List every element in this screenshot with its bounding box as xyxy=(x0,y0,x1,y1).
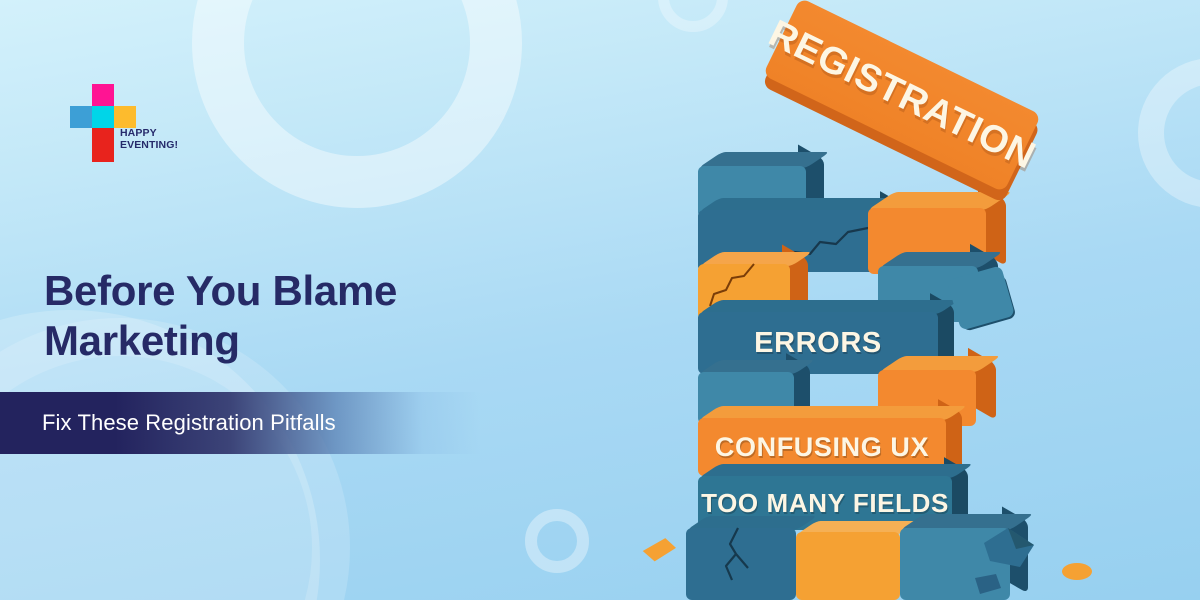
chip-shape xyxy=(970,572,1004,596)
logo-square-center xyxy=(92,106,114,128)
tower-block-base-center xyxy=(796,532,900,600)
debris-orange-dot xyxy=(1062,563,1092,580)
tower-label-too-many-fields: TOO MANY FIELDS xyxy=(701,488,949,519)
logo-square-right xyxy=(114,106,136,128)
tower-label-errors: ERRORS xyxy=(754,327,882,360)
debris-orange-chip-left xyxy=(638,534,681,566)
logo-wordmark: HAPPY EVENTING! xyxy=(120,128,178,151)
page-title: Before You Blame Marketing xyxy=(44,266,584,366)
debris-teal-shard-right xyxy=(980,525,1040,573)
happy-eventing-logo[interactable]: HAPPY EVENTING! xyxy=(54,84,184,142)
block-face xyxy=(686,528,796,600)
banner-canvas: HAPPY EVENTING! Before You Blame Marketi… xyxy=(0,0,1200,600)
deco-ring-top xyxy=(192,0,522,208)
logo-square-left xyxy=(70,106,92,128)
headline-line-1: Before You Blame xyxy=(44,266,584,316)
shard-shape xyxy=(980,525,1040,573)
subtitle-text: Fix These Registration Pitfalls xyxy=(0,410,336,436)
deco-ring-small-mid xyxy=(525,509,589,573)
debris-teal-chip-right xyxy=(970,572,1004,596)
subtitle-bar: Fix These Registration Pitfalls xyxy=(0,392,480,454)
logo-wordmark-line1: HAPPY xyxy=(120,128,178,140)
crack-icon xyxy=(686,528,796,600)
tower-block-base-left xyxy=(686,528,796,600)
logo-square-bottom xyxy=(92,128,114,162)
tower-label-confusing-ux: CONFUSING UX xyxy=(715,432,929,463)
block-face xyxy=(796,532,900,600)
logo-square-top xyxy=(92,84,114,106)
chip-shape xyxy=(638,534,681,566)
logo-wordmark-line2: EVENTING! xyxy=(120,140,178,152)
headline-line-2: Marketing xyxy=(44,316,584,366)
